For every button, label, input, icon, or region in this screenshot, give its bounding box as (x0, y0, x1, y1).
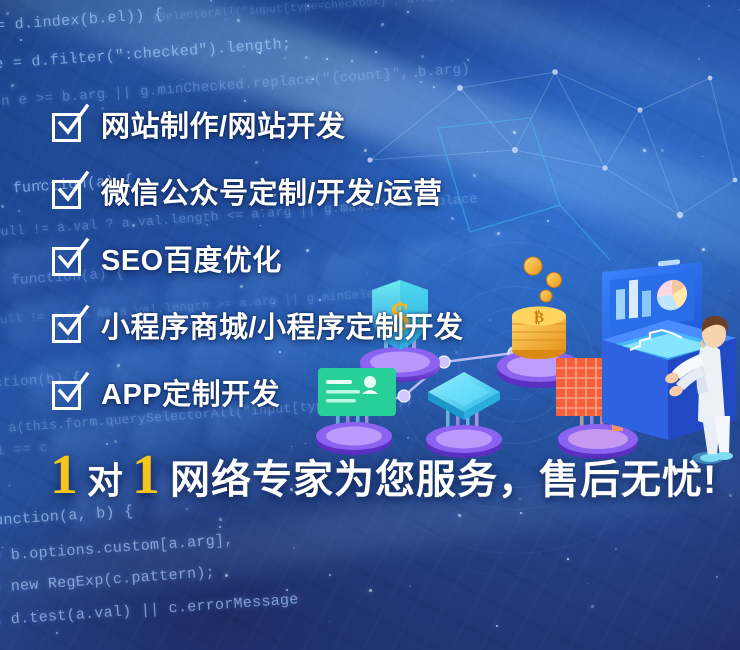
particle (1, 205, 4, 208)
particle (369, 589, 372, 592)
particle (56, 632, 58, 634)
code-line: = d.index(b.el)) { (0, 6, 164, 35)
promotional-banner: ySelectorAll("input[type=checkbox]", b.f… (0, 0, 740, 650)
feature-item-website: 网站制作/网站开发 (52, 96, 692, 158)
checkbox-checked-icon (52, 113, 81, 142)
code-line: = b.options.custom[a.arg], (0, 532, 234, 566)
particle (11, 84, 14, 87)
code-line: n d.test(a.val) || c.errorMessage (0, 591, 299, 629)
particle (74, 57, 76, 59)
particle (219, 526, 221, 528)
particle (293, 547, 295, 549)
checkbox-checked-icon (52, 381, 81, 410)
headline-number-second: 1 (132, 447, 160, 503)
particle (496, 625, 498, 627)
code-line: unction(a, b) { (0, 503, 134, 530)
feature-item-wechat: 微信公众号定制/开发/运营 (52, 163, 692, 225)
particle (9, 485, 10, 486)
particle (237, 19, 240, 22)
feature-label: 网站制作/网站开发 (101, 113, 346, 142)
particle (243, 66, 244, 67)
particle (305, 56, 308, 59)
particle (219, 518, 222, 521)
feature-item-app: APP定制开发 (52, 364, 692, 426)
feature-label: 微信公众号定制/开发/运营 (101, 180, 443, 209)
headline-connector: 对 (87, 463, 123, 499)
feature-item-miniprogram: 小程序商城/小程序定制开发 (52, 297, 692, 359)
particle (28, 53, 29, 54)
particle (329, 621, 330, 622)
feature-label: SEO百度优化 (101, 247, 282, 276)
particle (225, 19, 226, 20)
particle (6, 12, 9, 15)
particle (18, 210, 20, 212)
checkbox-checked-icon (52, 314, 81, 343)
headline-text: 网络专家为您服务，售后无忧! (170, 460, 717, 500)
particle (284, 57, 286, 59)
particle (39, 182, 41, 184)
code-line: 1 == c (0, 440, 49, 460)
particle (186, 508, 188, 510)
particle (20, 39, 22, 41)
particle (312, 78, 314, 80)
particle (591, 605, 594, 608)
particle (587, 583, 588, 584)
particle (286, 589, 288, 591)
code-line: e = d.filter(":checked").length; (0, 36, 292, 74)
particle (114, 440, 117, 443)
particle (182, 79, 183, 80)
feature-item-seo: SEO百度优化 (52, 230, 692, 292)
checkbox-checked-icon (52, 247, 81, 276)
particle (210, 0, 212, 2)
feature-list: 网站制作/网站开发微信公众号定制/开发/运营SEO百度优化小程序商城/小程序定制… (52, 96, 692, 431)
feature-label: APP定制开发 (101, 381, 280, 410)
particle (37, 610, 38, 611)
feature-label: 小程序商城/小程序定制开发 (101, 314, 464, 343)
particle (259, 52, 261, 54)
particle (409, 585, 411, 587)
particle (326, 58, 328, 60)
particle (307, 5, 309, 7)
particle (2, 547, 3, 548)
headline-number-first: 1 (50, 447, 78, 503)
particle (106, 443, 108, 445)
code-line: = new RegExp(c.pattern); (0, 564, 216, 597)
particle (225, 574, 228, 577)
headline-banner: 1 对 1 网络专家为您服务，售后无忧! (50, 447, 717, 503)
checkbox-checked-icon (52, 180, 81, 209)
